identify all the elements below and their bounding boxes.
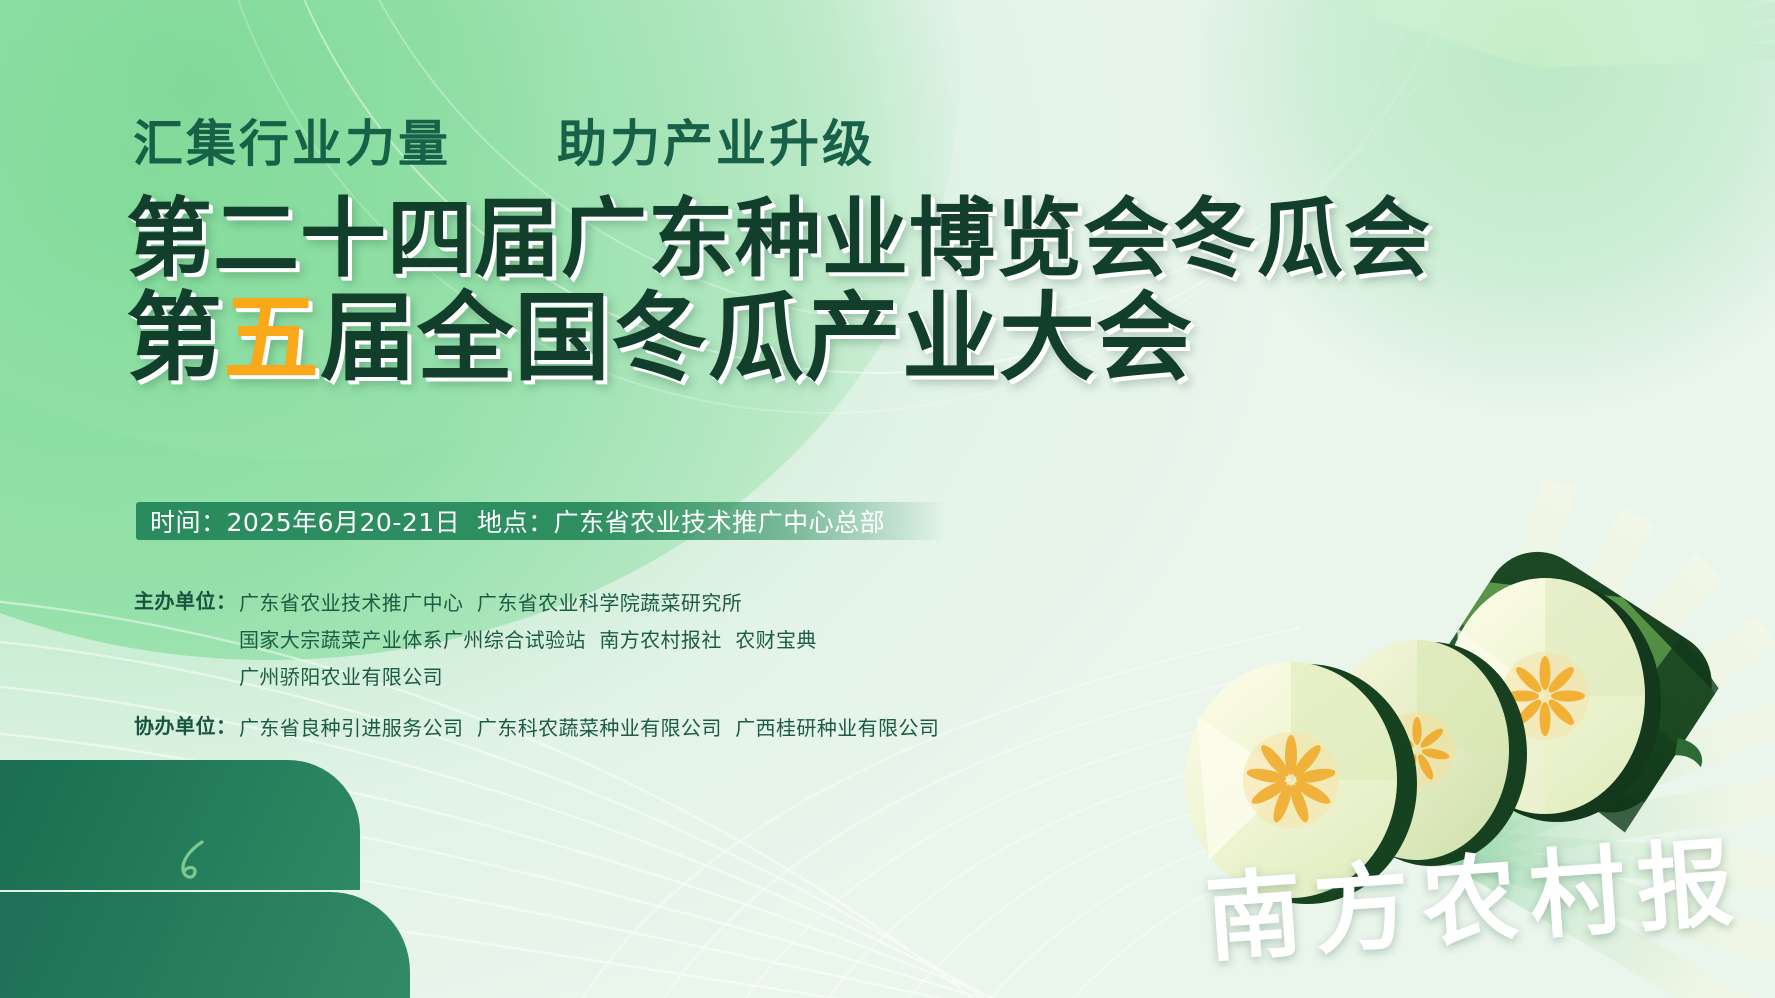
host-line: 广州骄阳农业有限公司 [239, 659, 1094, 696]
poster-kicker: 汇集行业力量 助力产业升级 [133, 119, 875, 169]
title-line-2-highlight: 五 [223, 282, 320, 394]
title-line-2-prefix: 第 [126, 282, 223, 394]
host-lines: 广东省农业技术推广中心 广东省农业科学院蔬菜研究所 国家大宗蔬菜产业体系广州综合… [239, 585, 1094, 696]
host-line: 广东省农业技术推广中心 广东省农业科学院蔬菜研究所 [239, 585, 1094, 622]
poster-title-line-2: 第五届全国冬瓜产业大会 [126, 290, 1193, 386]
host-line: 国家大宗蔬菜产业体系广州综合试验站 南方农村报社 农财宝典 [239, 622, 1094, 659]
event-info-text: 时间：2025年6月20-21日 地点：广东省农业技术推广中心总部 [150, 503, 885, 539]
organizers-block: 主办单位： 广东省农业技术推广中心 广东省农业科学院蔬菜研究所 国家大宗蔬菜产业… [134, 585, 1094, 761]
host-organizers-row: 主办单位： 广东省农业技术推广中心 广东省农业科学院蔬菜研究所 国家大宗蔬菜产业… [134, 585, 1094, 696]
cohost-organizers-row: 协办单位： 广东省良种引进服务公司 广东科农蔬菜种业有限公司 广西桂研种业有限公… [134, 710, 1094, 747]
cohost-label: 协办单位： [134, 710, 239, 739]
host-label: 主办单位： [134, 585, 239, 614]
event-poster: 汇集行业力量 助力产业升级 第二十四届广东种业博览会冬瓜会 第五届全国冬瓜产业大… [0, 0, 1775, 998]
poster-content: 汇集行业力量 助力产业升级 第二十四届广东种业博览会冬瓜会 第五届全国冬瓜产业大… [0, 0, 1775, 998]
publisher-watermark: 南方农村报 [1201, 804, 1749, 980]
title-line-2-suffix: 届全国冬瓜产业大会 [320, 282, 1193, 394]
poster-title-line-1: 第二十四届广东种业博览会冬瓜会 [126, 196, 1431, 282]
cohost-lines: 广东省良种引进服务公司 广东科农蔬菜种业有限公司 广西桂研种业有限公司 [239, 710, 1094, 747]
event-info-bar: 时间：2025年6月20-21日 地点：广东省农业技术推广中心总部 [136, 502, 946, 540]
cohost-line: 广东省良种引进服务公司 广东科农蔬菜种业有限公司 广西桂研种业有限公司 [239, 710, 1094, 747]
